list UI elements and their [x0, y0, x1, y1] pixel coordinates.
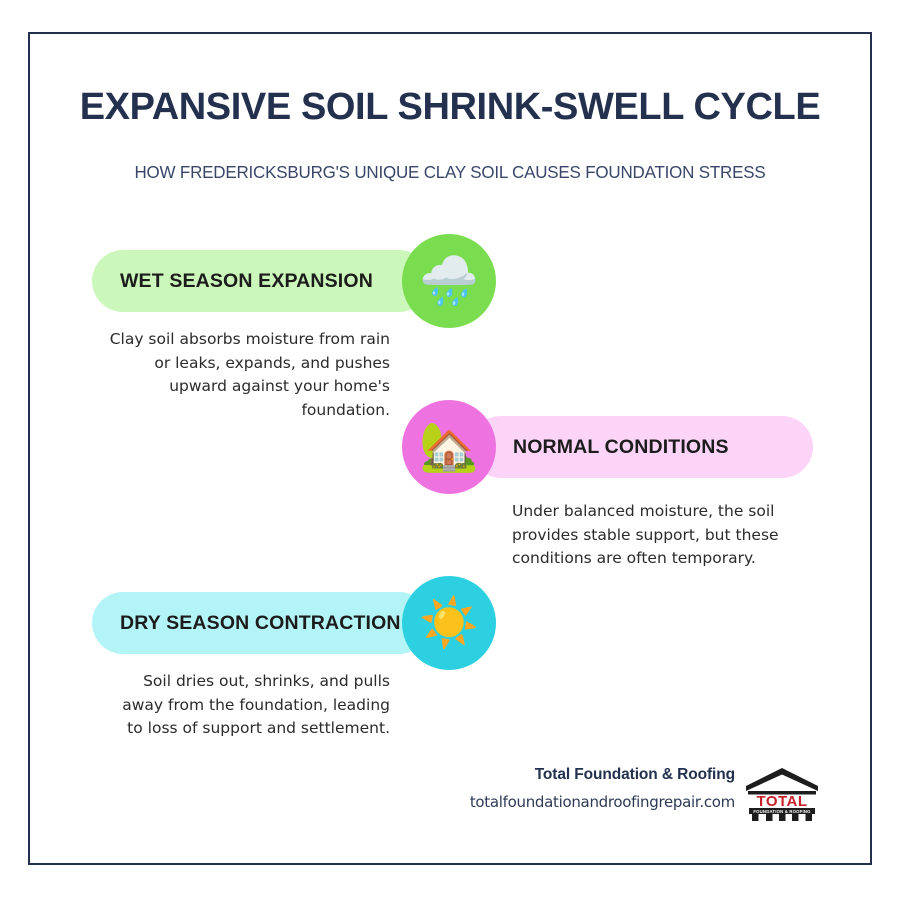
step-wet-description: Clay soil absorbs moisture from rain or … — [108, 328, 390, 422]
logo-wordmark: TOTAL — [756, 793, 807, 810]
infographic-canvas: EXPANSIVE SOIL SHRINK-SWELL CYCLE HOW FR… — [0, 0, 900, 900]
house-with-garden-icon: 🏡 — [402, 400, 496, 494]
page-subtitle: HOW FREDERICKSBURG'S UNIQUE CLAY SOIL CA… — [14, 162, 887, 183]
step-wet-label: WET SEASON EXPANSION — [120, 270, 373, 293]
footer-text-block: Total Foundation & Roofing totalfoundati… — [425, 766, 735, 811]
step-dry-pill: DRY SEASON CONTRACTION — [92, 592, 430, 654]
rain-cloud-icon: 🌧️ — [402, 234, 496, 328]
step-wet-pill: WET SEASON EXPANSION — [92, 250, 430, 312]
page-title: EXPANSIVE SOIL SHRINK-SWELL CYCLE — [0, 86, 900, 129]
step-dry-description: Soil dries out, shrinks, and pulls away … — [108, 670, 390, 741]
step-normal-label: NORMAL CONDITIONS — [513, 436, 729, 459]
step-dry-label: DRY SEASON CONTRACTION — [120, 612, 401, 635]
logo-tagline: FOUNDATION & ROOFING — [753, 809, 811, 814]
sun-icon: ☀️ — [402, 576, 496, 670]
footer-branding: Total Foundation & Roofing totalfoundati… — [420, 766, 820, 836]
step-normal-description: Under balanced moisture, the soil provid… — [512, 500, 802, 571]
brand-name: Total Foundation & Roofing — [425, 766, 735, 784]
company-logo-icon: TOTAL FOUNDATION & ROOFING — [744, 766, 820, 822]
brand-website: totalfoundationandroofingrepair.com — [425, 793, 735, 811]
step-normal-pill: NORMAL CONDITIONS — [470, 416, 813, 478]
